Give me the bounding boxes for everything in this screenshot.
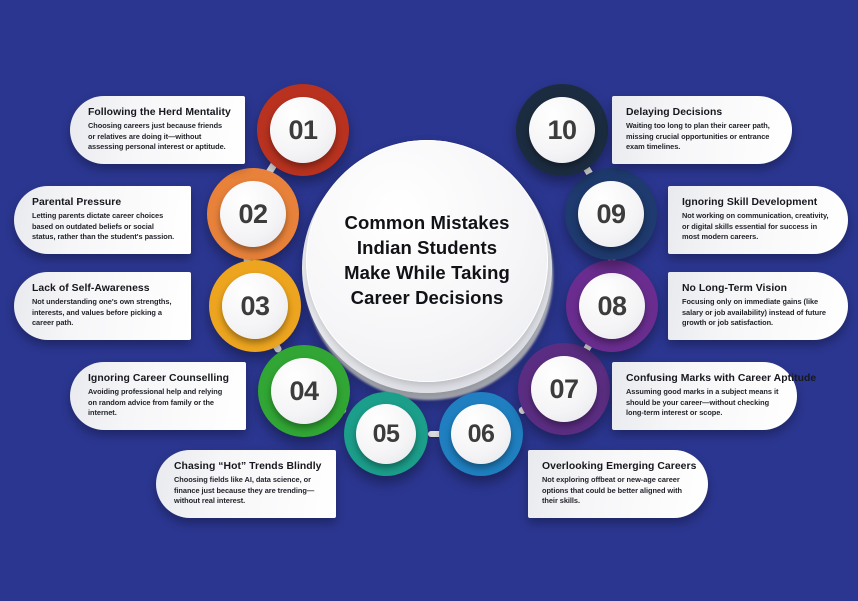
node-02[interactable]: 02	[207, 168, 299, 260]
node-06[interactable]: 06	[439, 392, 523, 476]
node-01-number: 01	[288, 115, 317, 146]
card-08-body: Focusing only on immediate gains (like s…	[682, 297, 830, 329]
card-02-body: Letting parents dictate career choices b…	[32, 211, 177, 243]
node-05[interactable]: 05	[344, 392, 428, 476]
hub-title-line-3: Make While Taking	[322, 261, 532, 286]
card-06[interactable]: Overlooking Emerging Careers Not explori…	[528, 450, 708, 518]
node-01[interactable]: 01	[257, 84, 349, 176]
node-06-inner: 06	[451, 404, 511, 464]
card-10-body: Waiting too long to plan their career pa…	[626, 121, 774, 153]
card-09-heading: Ignoring Skill Development	[682, 197, 830, 208]
card-05-body: Choosing fields like AI, data science, o…	[174, 475, 322, 507]
hub-center: Common Mistakes Indian Students Make Whi…	[306, 140, 548, 382]
node-10-inner: 10	[529, 97, 595, 163]
hub-title-line-4: Career Decisions	[322, 286, 532, 311]
card-07-heading: Confusing Marks with Career Aptitude	[626, 373, 779, 384]
card-03[interactable]: Lack of Self-Awareness Not understanding…	[14, 272, 191, 340]
card-10[interactable]: Delaying Decisions Waiting too long to p…	[612, 96, 792, 164]
card-04-body: Avoiding professional help and relying o…	[88, 387, 232, 419]
node-04-number: 04	[289, 376, 318, 407]
node-09-number: 09	[596, 199, 625, 230]
node-03[interactable]: 03	[209, 260, 301, 352]
hub-title-line-2: Indian Students	[322, 236, 532, 261]
node-06-number: 06	[468, 420, 495, 449]
card-06-body: Not exploring offbeat or new-age career …	[542, 475, 690, 507]
node-08[interactable]: 08	[566, 260, 658, 352]
node-03-inner: 03	[222, 273, 288, 339]
card-01-body: Choosing careers just because friends or…	[88, 121, 231, 153]
card-07-body: Assuming good marks in a subject means i…	[626, 387, 779, 419]
card-08-heading: No Long-Term Vision	[682, 283, 830, 294]
hub-title-line-1: Common Mistakes	[322, 211, 532, 236]
node-02-number: 02	[238, 199, 267, 230]
card-05[interactable]: Chasing “Hot” Trends Blindly Choosing fi…	[156, 450, 336, 518]
card-07[interactable]: Confusing Marks with Career Aptitude Ass…	[612, 362, 797, 430]
card-04-heading: Ignoring Career Counselling	[88, 373, 232, 384]
node-07-inner: 07	[531, 356, 597, 422]
node-04-inner: 04	[271, 358, 337, 424]
node-01-inner: 01	[270, 97, 336, 163]
card-03-heading: Lack of Self-Awareness	[32, 283, 177, 294]
card-01-heading: Following the Herd Mentality	[88, 107, 231, 118]
hub-title: Common Mistakes Indian Students Make Whi…	[322, 211, 532, 311]
card-06-heading: Overlooking Emerging Careers	[542, 461, 690, 472]
card-03-body: Not understanding one's own strengths, i…	[32, 297, 177, 329]
node-04[interactable]: 04	[258, 345, 350, 437]
node-05-number: 05	[373, 420, 400, 449]
node-08-number: 08	[597, 291, 626, 322]
card-01[interactable]: Following the Herd Mentality Choosing ca…	[70, 96, 245, 164]
card-02[interactable]: Parental Pressure Letting parents dictat…	[14, 186, 191, 254]
card-05-heading: Chasing “Hot” Trends Blindly	[174, 461, 322, 472]
node-09-inner: 09	[578, 181, 644, 247]
infographic-canvas: Common Mistakes Indian Students Make Whi…	[0, 0, 858, 601]
node-03-number: 03	[240, 291, 269, 322]
card-04[interactable]: Ignoring Career Counselling Avoiding pro…	[70, 362, 246, 430]
node-02-inner: 02	[220, 181, 286, 247]
node-10-number: 10	[547, 115, 576, 146]
card-10-heading: Delaying Decisions	[626, 107, 774, 118]
card-08[interactable]: No Long-Term Vision Focusing only on imm…	[668, 272, 848, 340]
card-09[interactable]: Ignoring Skill Development Not working o…	[668, 186, 848, 254]
card-09-body: Not working on communication, creativity…	[682, 211, 830, 243]
card-02-heading: Parental Pressure	[32, 197, 177, 208]
node-10[interactable]: 10	[516, 84, 608, 176]
node-09[interactable]: 09	[565, 168, 657, 260]
node-05-inner: 05	[356, 404, 416, 464]
node-08-inner: 08	[579, 273, 645, 339]
node-07-number: 07	[549, 374, 578, 405]
node-07[interactable]: 07	[518, 343, 610, 435]
